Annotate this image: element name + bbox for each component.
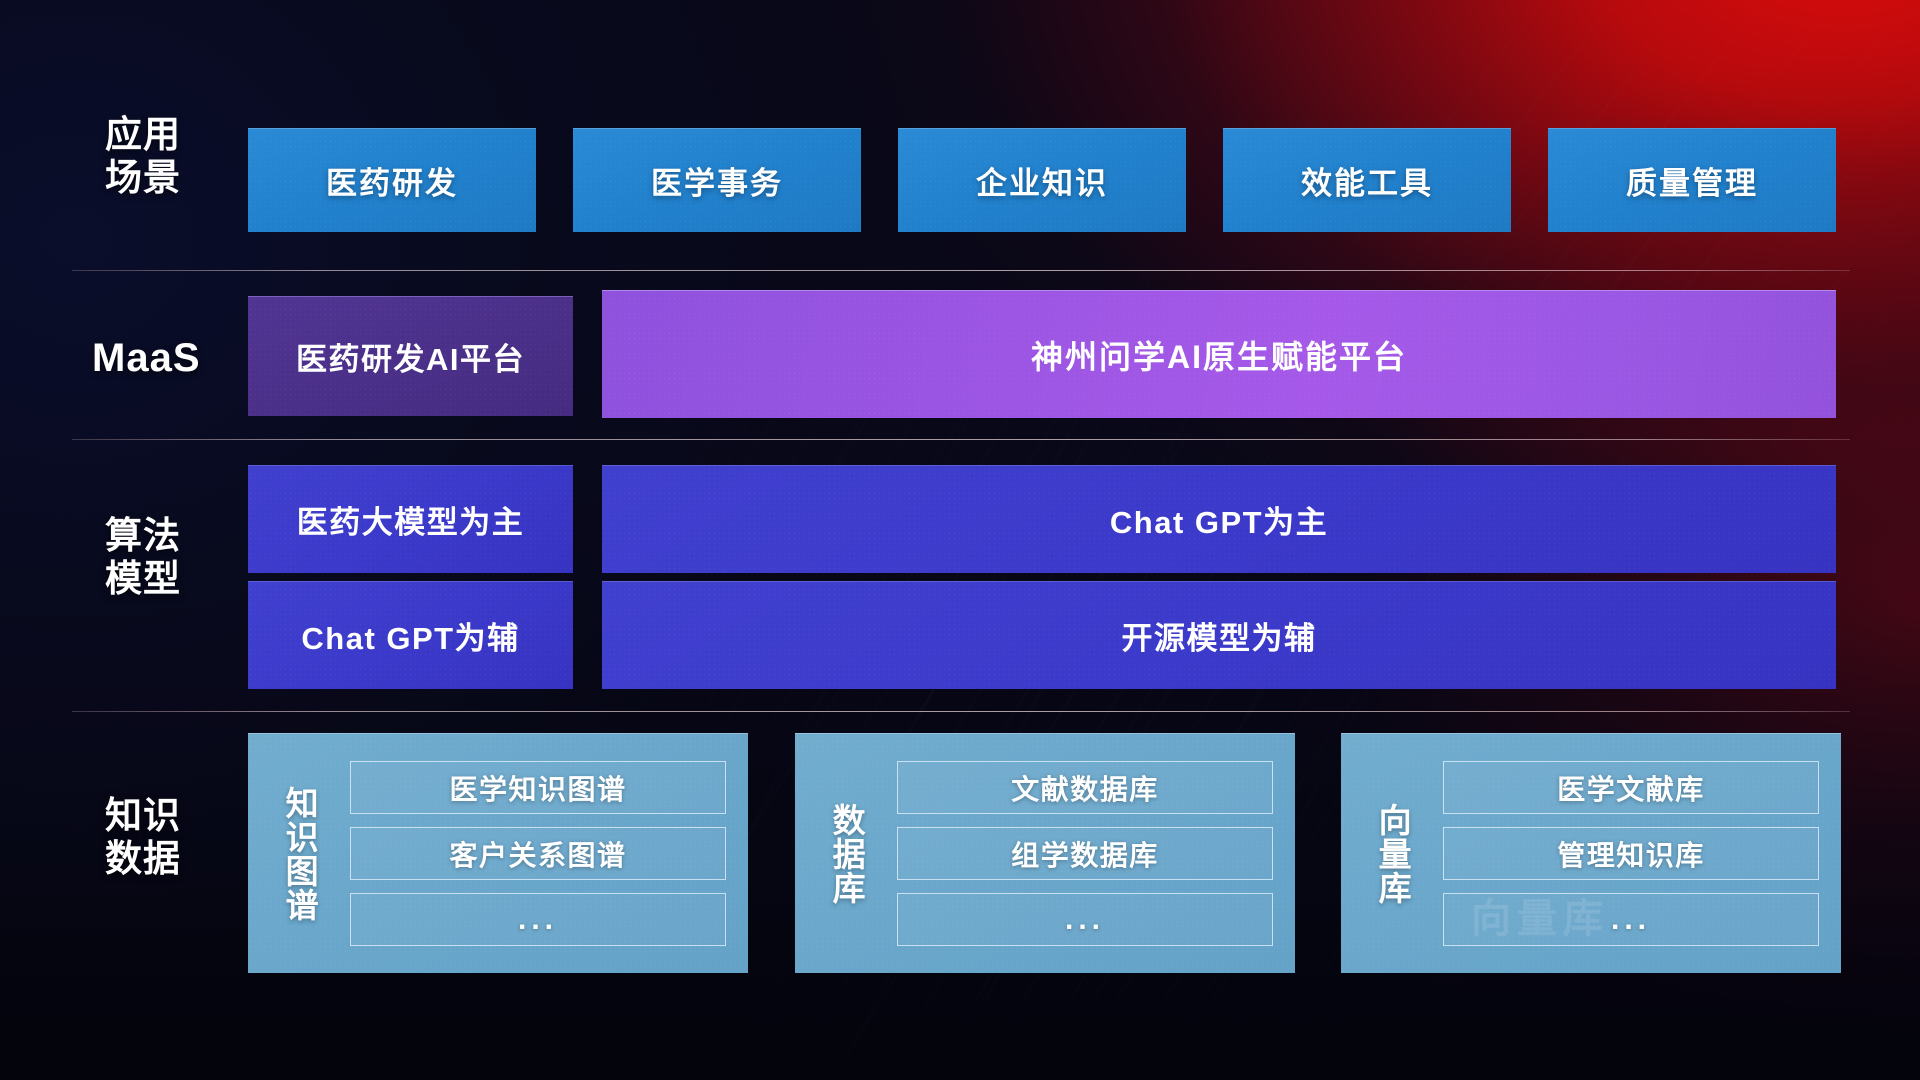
knowledge-item[interactable]: 组学数据库 [897,827,1273,880]
knowledge-panel-vector-store[interactable]: 向量库 向量库 医学文献库 管理知识库 ... [1341,733,1841,973]
knowledge-panel-vector-store-items: 医学文献库 管理知识库 ... [1429,734,1841,973]
knowledge-panel-vector-store-title: 向量库 [1355,734,1429,973]
knowledge-item[interactable]: 管理知识库 [1443,827,1819,880]
algo-box-chatgpt-secondary[interactable]: Chat GPT为辅 [248,581,573,689]
knowledge-panel-knowledge-graph-title: 知识图谱 [262,734,336,973]
algo-box-pharma-llm-primary-label: 医药大模型为主 [297,497,525,542]
scene-box-2[interactable]: 医学事务 [573,128,861,232]
algo-box-pharma-llm-primary[interactable]: 医药大模型为主 [248,465,573,573]
knowledge-item[interactable]: 客户关系图谱 [350,827,726,880]
row-label-algorithm-model: 算法 模型 [105,515,235,601]
algo-box-chatgpt-primary[interactable]: Chat GPT为主 [602,465,1836,573]
divider-2 [72,439,1850,440]
scene-box-5[interactable]: 质量管理 [1548,128,1836,232]
scene-box-1[interactable]: 医药研发 [248,128,536,232]
knowledge-item[interactable]: 医学知识图谱 [350,761,726,814]
algo-box-opensource-secondary-label: 开源模型为辅 [1122,613,1317,658]
algo-box-chatgpt-primary-label: Chat GPT为主 [1110,497,1328,542]
maas-box-pharma-ai-platform[interactable]: 医药研发AI平台 [248,296,573,416]
maas-box-pharma-ai-platform-label: 医药研发AI平台 [296,334,525,379]
knowledge-panel-knowledge-graph[interactable]: 知识图谱 医学知识图谱 客户关系图谱 ... [248,733,748,973]
architecture-diagram: 应用 场景 医药研发 医学事务 企业知识 效能工具 质量管理 MaaS 医药研发… [0,0,1920,1080]
row-label-knowledge-data: 知识 数据 [105,795,235,881]
row-label-application-scenario: 应用 场景 [105,114,235,200]
row-label-maas: MaaS [92,335,242,381]
algo-box-opensource-secondary[interactable]: 开源模型为辅 [602,581,1836,689]
maas-box-shenzhou-platform-label: 神州问学AI原生赋能平台 [1031,332,1407,378]
knowledge-item[interactable]: 文献数据库 [897,761,1273,814]
knowledge-item-more[interactable]: ... [897,893,1273,946]
knowledge-panel-knowledge-graph-items: 医学知识图谱 客户关系图谱 ... [336,734,748,973]
knowledge-item-more[interactable]: ... [1443,893,1819,946]
knowledge-item[interactable]: 医学文献库 [1443,761,1819,814]
scene-box-5-label: 质量管理 [1626,158,1758,203]
knowledge-panel-database-title: 数据库 [809,734,883,973]
scene-box-2-label: 医学事务 [651,158,783,203]
divider-1 [72,270,1850,271]
divider-3 [72,711,1850,712]
maas-box-shenzhou-platform[interactable]: 神州问学AI原生赋能平台 [602,290,1836,418]
scene-box-3[interactable]: 企业知识 [898,128,1186,232]
scene-box-4[interactable]: 效能工具 [1223,128,1511,232]
knowledge-panel-database[interactable]: 数据库 文献数据库 组学数据库 ... [795,733,1295,973]
scene-box-3-label: 企业知识 [976,158,1108,203]
algo-box-chatgpt-secondary-label: Chat GPT为辅 [301,613,519,658]
scene-box-1-label: 医药研发 [326,158,458,203]
knowledge-panel-database-items: 文献数据库 组学数据库 ... [883,734,1295,973]
scene-box-4-label: 效能工具 [1301,158,1433,203]
knowledge-item-more[interactable]: ... [350,893,726,946]
